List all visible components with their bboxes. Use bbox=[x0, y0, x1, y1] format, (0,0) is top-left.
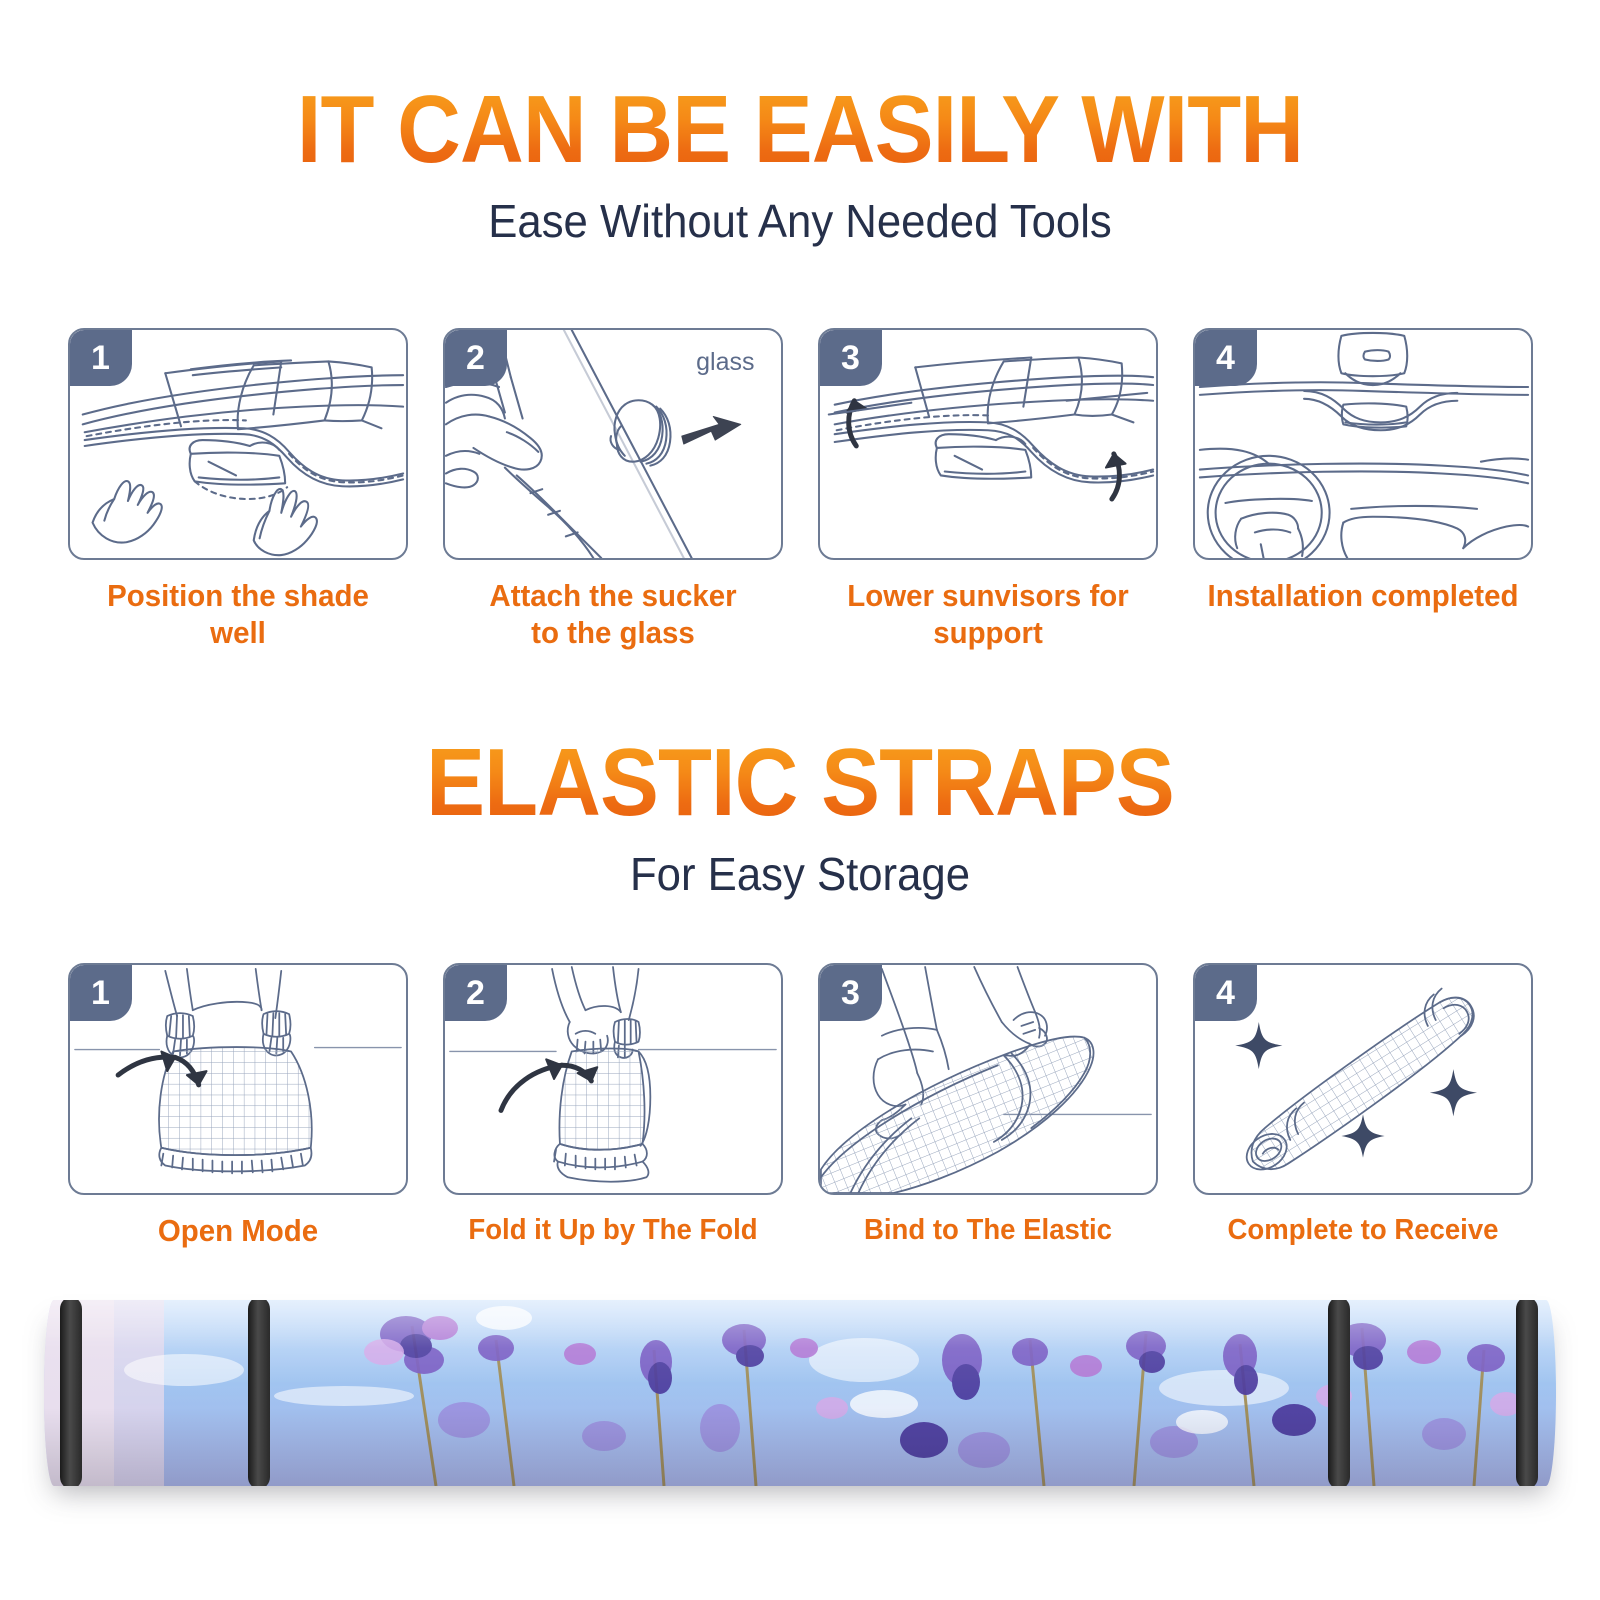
step-illustration-card: 1 bbox=[68, 328, 408, 560]
step-number-badge: 2 bbox=[445, 330, 507, 386]
step-number-badge: 4 bbox=[1195, 330, 1257, 386]
installation-steps-row: 1 bbox=[0, 328, 1600, 651]
installation-title: IT CAN BE EASILY WITH bbox=[64, 82, 1536, 178]
step-card-install-2: 2 glass bbox=[443, 328, 783, 651]
step-number-badge: 1 bbox=[70, 965, 132, 1021]
step-illustration-card: 4 bbox=[1193, 328, 1533, 560]
step-caption: Open Mode bbox=[76, 1213, 399, 1250]
step-number-badge: 3 bbox=[820, 965, 882, 1021]
step-illustration-card: 2 glass bbox=[443, 328, 783, 560]
installation-subtitle: Ease Without Any Needed Tools bbox=[40, 194, 1560, 248]
step-card-storage-2: 2 bbox=[443, 963, 783, 1250]
step-illustration-card: 2 bbox=[443, 963, 783, 1195]
elastic-strap bbox=[1516, 1300, 1538, 1486]
storage-subtitle: For Easy Storage bbox=[40, 847, 1560, 901]
step-caption: Bind to The Elastic bbox=[826, 1213, 1149, 1247]
step-number-badge: 2 bbox=[445, 965, 507, 1021]
glass-label: glass bbox=[696, 348, 754, 377]
step-caption: Fold it Up by The Fold bbox=[451, 1213, 774, 1247]
product-photo-section bbox=[0, 1300, 1600, 1486]
step-caption: Complete to Receive bbox=[1201, 1213, 1524, 1247]
infographic-page: IT CAN BE EASILY WITH Ease Without Any N… bbox=[0, 0, 1600, 1600]
step-caption: Attach the sucker to the glass bbox=[451, 578, 774, 651]
step-illustration-card: 1 bbox=[68, 963, 408, 1195]
elastic-strap bbox=[248, 1300, 270, 1486]
step-number-badge: 3 bbox=[820, 330, 882, 386]
step-card-install-1: 1 bbox=[68, 328, 408, 651]
step-card-storage-3: 3 bbox=[818, 963, 1158, 1250]
step-card-install-4: 4 bbox=[1193, 328, 1533, 651]
step-illustration-card: 3 bbox=[818, 963, 1158, 1195]
storage-title: ELASTIC STRAPS bbox=[64, 735, 1536, 831]
storage-steps-row: 1 bbox=[0, 963, 1600, 1250]
step-illustration-card: 3 bbox=[818, 328, 1158, 560]
step-card-storage-4: 4 bbox=[1193, 963, 1533, 1250]
storage-section-header: ELASTIC STRAPS For Easy Storage bbox=[0, 735, 1600, 901]
elastic-strap bbox=[60, 1300, 82, 1486]
step-number-badge: 4 bbox=[1195, 965, 1257, 1021]
step-caption: Installation completed bbox=[1201, 578, 1524, 615]
rolled-sunshade-product bbox=[44, 1300, 1556, 1486]
installation-section-header: IT CAN BE EASILY WITH Ease Without Any N… bbox=[0, 82, 1600, 248]
step-caption: Position the shade well bbox=[76, 578, 399, 651]
elastic-strap bbox=[1328, 1300, 1350, 1486]
step-illustration-card: 4 bbox=[1193, 963, 1533, 1195]
step-card-install-3: 3 bbox=[818, 328, 1158, 651]
step-number-badge: 1 bbox=[70, 330, 132, 386]
step-caption: Lower sunvisors for support bbox=[826, 578, 1149, 651]
step-card-storage-1: 1 bbox=[68, 963, 408, 1250]
